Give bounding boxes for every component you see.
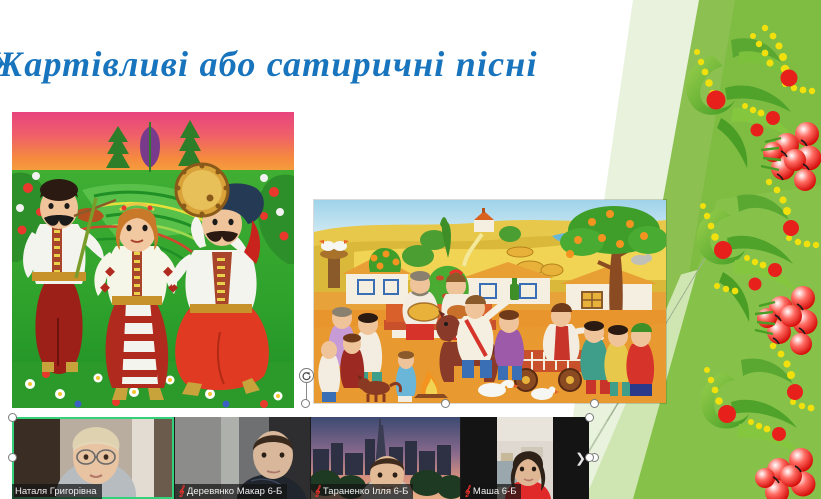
filmstrip-handle-middle-left[interactable] (8, 453, 17, 462)
rotation-handle[interactable] (299, 368, 314, 383)
painting-three-dancers-art (12, 112, 294, 408)
filmstrip-handle-top-right[interactable] (585, 413, 594, 422)
slide-title: Жартівливі або сатиричні пісні (0, 43, 630, 85)
figure-tambourine-player (172, 164, 269, 397)
participant-name-chip-1: Наталя Григорівна (12, 484, 102, 499)
microphone-muted-icon: 𝄞 (464, 487, 470, 497)
floral-group-bottom (701, 343, 815, 456)
video-tile-1[interactable]: Наталя Григорівна (12, 417, 174, 499)
filmstrip-handle-top-left[interactable] (8, 413, 17, 422)
floral-ornament (661, 0, 821, 499)
painting-three-dancers[interactable] (12, 112, 294, 408)
selection-handle-bottom-center[interactable] (441, 399, 450, 408)
filmstrip-handle-middle-right[interactable] (585, 453, 594, 462)
participant-name-2: Деревянко Макар 6-Б (187, 484, 282, 499)
berry-cluster-3 (755, 448, 816, 499)
participant-name-chip-4: 𝄞 Маша 6-Б (461, 484, 521, 499)
participant-name-chip-3: 𝄞 Тараненко Ілля 6-Б (311, 484, 413, 499)
presentation-slide: Жартівливі або сатиричні пісні (0, 0, 821, 499)
crowd-right (580, 321, 654, 396)
video-tile-2[interactable]: 𝄞 Деревянко Макар 6-Б (175, 417, 310, 499)
participant-name-4: Маша 6-Б (473, 484, 517, 499)
berry-cluster-2 (755, 286, 818, 355)
microphone-muted-icon: 𝄞 (178, 487, 184, 497)
painting-village-festival-art (314, 200, 666, 403)
video-tile-4[interactable]: 𝄞 Маша 6-Б (461, 417, 589, 499)
rotate-icon (301, 370, 312, 381)
participant-name-1: Наталя Григорівна (15, 484, 97, 499)
participant-name-chip-2: 𝄞 Деревянко Макар 6-Б (175, 484, 287, 499)
selection-handle-bottom-right[interactable] (590, 399, 599, 408)
participant-name-3: Тараненко Ілля 6-Б (323, 484, 408, 499)
painting-village-festival[interactable] (314, 200, 666, 403)
video-tile-3[interactable]: 𝄞 Тараненко Ілля 6-Б (311, 417, 460, 499)
video-filmstrip[interactable]: Наталя Григорівна (12, 417, 589, 499)
selection-handle-bottom-left[interactable] (301, 399, 310, 408)
microphone-muted-icon: 𝄞 (314, 487, 320, 497)
